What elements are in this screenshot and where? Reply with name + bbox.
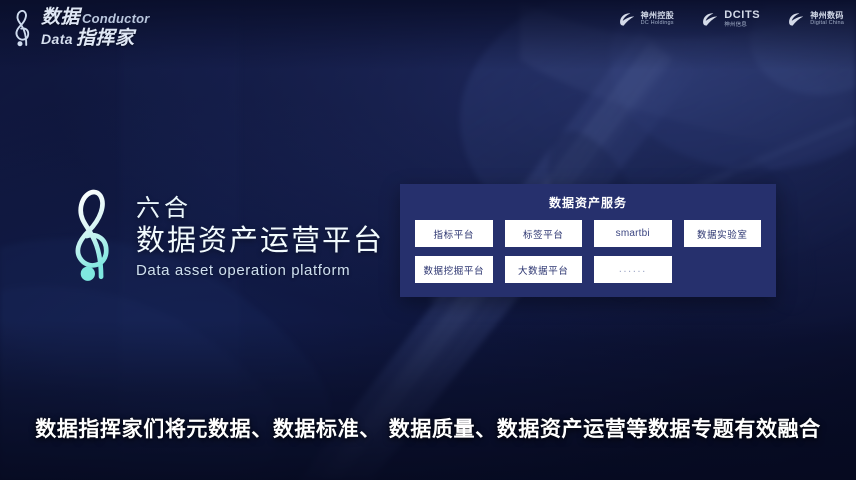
service-tile[interactable]: smartbi [594, 220, 672, 247]
brand-cn-2: 指挥家 [76, 29, 135, 48]
brand-en-2: Data [41, 32, 73, 46]
brand-row-2: Data 指挥家 [41, 29, 150, 48]
slide-caption: 数据指挥家们将元数据、数据标准、 数据质量、数据资产运营等数据专题有效融合 [0, 413, 856, 443]
partner-name-cn: DCITS [724, 10, 760, 22]
brand-logo[interactable]: 数据 Conductor Data 指挥家 [12, 6, 150, 50]
swirl-logo-icon [617, 10, 636, 29]
service-tile[interactable]: 大数据平台 [505, 256, 583, 283]
product-name-en: Data asset operation platform [136, 262, 384, 279]
partner-name-en: DC Holdings [641, 21, 675, 27]
partner-name-cn: 神州数码 [810, 12, 844, 20]
brand-en-1: Conductor [82, 12, 150, 25]
product-name-line1: 六合 [136, 193, 384, 223]
brand-row-1: 数据 Conductor [41, 8, 150, 27]
partner-name-en: Digital China [810, 21, 844, 27]
data-asset-service-panel: 数据资产服务 指标平台 标签平台 smartbi 数据实验室 数据挖掘平台 大数… [400, 184, 776, 297]
service-tile[interactable]: 标签平台 [505, 220, 583, 247]
partner-logo-dc-holdings[interactable]: 神州控股 DC Holdings [617, 10, 675, 29]
product-name-line2: 数据资产运营平台 [136, 222, 384, 260]
service-tile[interactable]: 数据挖掘平台 [415, 256, 493, 283]
service-tile[interactable]: 指标平台 [415, 220, 493, 247]
slide-canvas: 数据 Conductor Data 指挥家 神州控股 DC Holdings [0, 0, 856, 480]
product-lockup: 六合 数据资产运营平台 Data asset operation platfor… [66, 183, 384, 289]
swirl-logo-icon [700, 10, 719, 29]
treble-clef-icon [12, 6, 38, 50]
panel-title: 数据资产服务 [400, 194, 776, 211]
partner-name-cn: 神州控股 [641, 12, 675, 20]
service-tile[interactable]: 数据实验室 [684, 220, 762, 247]
bottom-fade-overlay [0, 320, 856, 480]
brand-cn-1: 数据 [41, 8, 80, 27]
partner-name-en: 神州信息 [724, 23, 760, 29]
partner-logo-group: 神州控股 DC Holdings DCITS 神州信息 神州数码 [617, 10, 844, 29]
service-tile-more[interactable]: ...... [594, 256, 672, 283]
service-tile-grid: 指标平台 标签平台 smartbi 数据实验室 数据挖掘平台 大数据平台 ...… [415, 220, 761, 283]
partner-logo-dcits[interactable]: DCITS 神州信息 [700, 10, 760, 29]
treble-clef-icon [66, 183, 128, 289]
partner-logo-digital-china[interactable]: 神州数码 Digital China [786, 10, 844, 29]
page-header: 数据 Conductor Data 指挥家 神州控股 DC Holdings [0, 0, 856, 58]
swirl-logo-icon [786, 10, 805, 29]
